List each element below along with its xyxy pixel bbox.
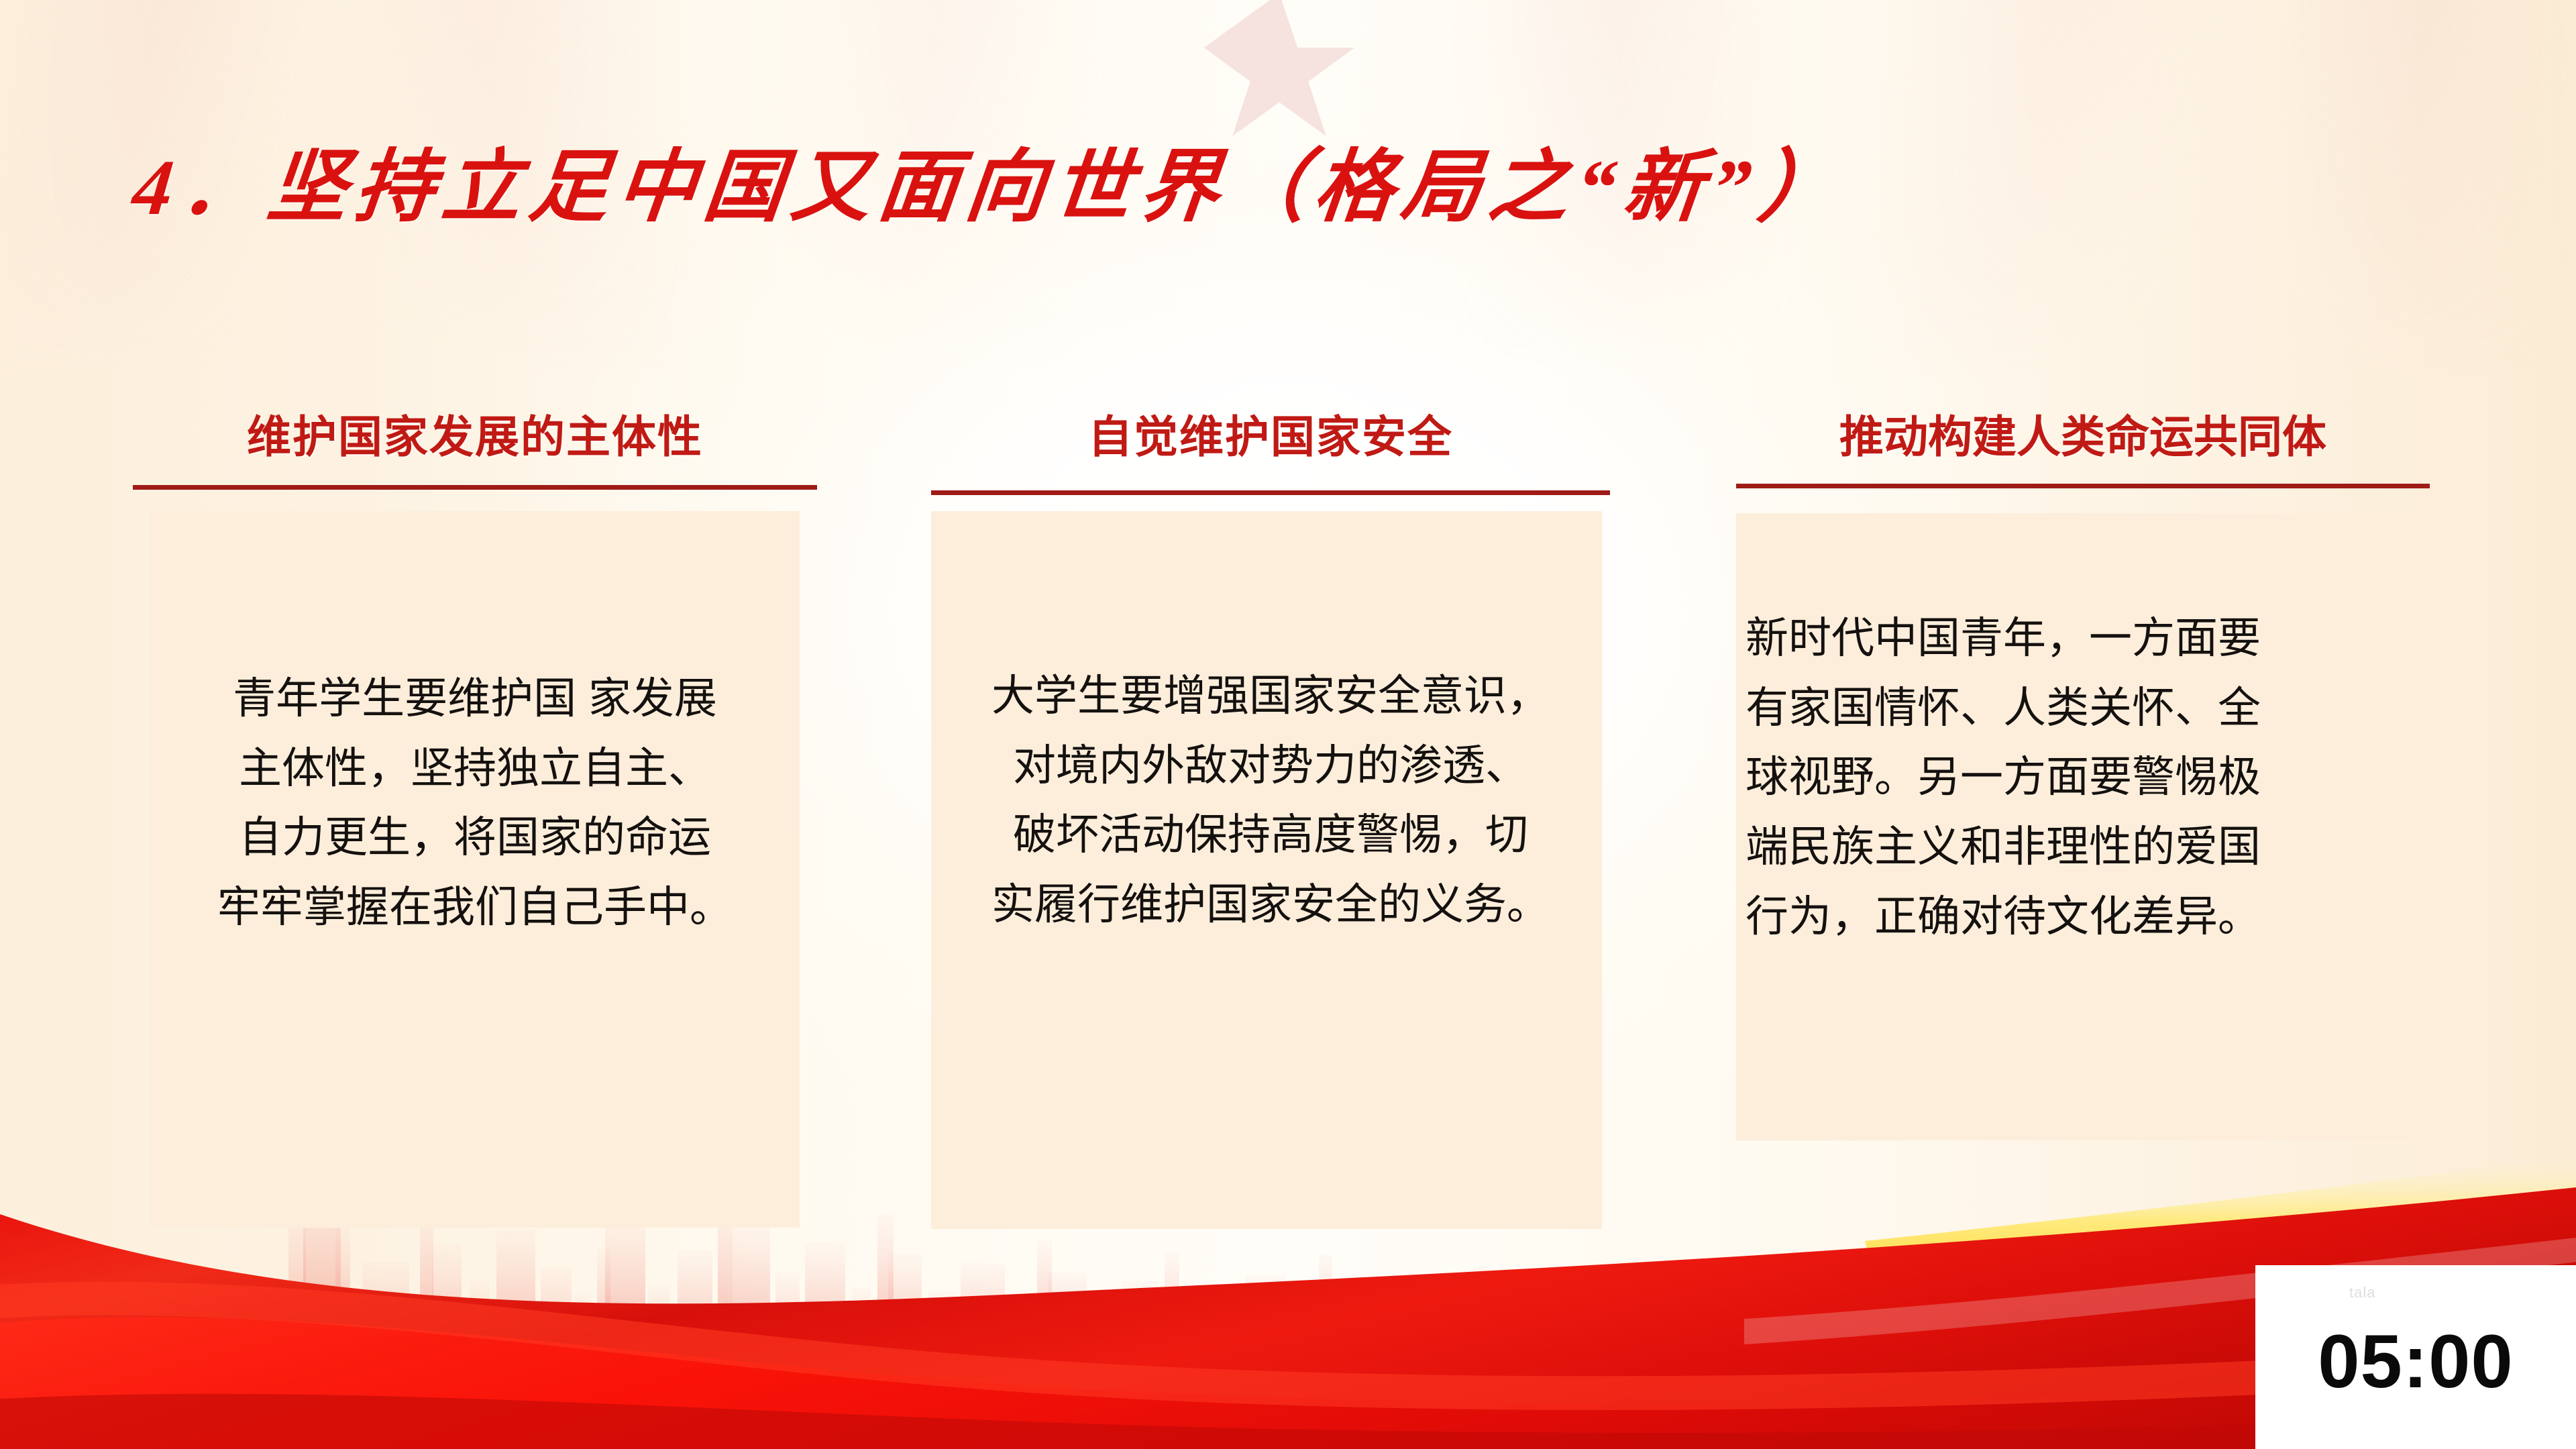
column-2-underline [931, 490, 1610, 495]
column-1-header: 维护国家发展的主体性 [133, 401, 817, 466]
slide-canvas: 4．坚持立足中国又面向世界（格局之“新”） 维护国家发展的主体性 青年学生要维护… [0, 0, 2576, 1449]
timer-watermark: tala [2349, 1284, 2375, 1301]
column-3-header: 推动构建人类命运共同体 [1736, 401, 2430, 466]
column-3-body-text: 新时代中国青年，一方面要 有家国情怀、人类关怀、全 球视野。另一方面要警惕极 端… [1736, 604, 2430, 951]
column-2-body-text: 大学生要增强国家安全意识， 对境内外敌对势力的渗透、 破坏活动保持高度警惕，切 … [931, 661, 1610, 940]
countdown-timer[interactable]: tala 05:00 [2255, 1265, 2576, 1449]
column-3-underline [1736, 484, 2430, 488]
content-columns: 维护国家发展的主体性 青年学生要维护国 家发展 主体性，坚持独立自主、 自力更生… [0, 0, 2576, 1449]
column-1-body-text: 青年学生要维护国 家发展 主体性，坚持独立自主、 自力更生，将国家的命运 牢牢掌… [133, 664, 817, 943]
timer-value: 05:00 [2318, 1324, 2513, 1399]
column-1-underline [133, 485, 817, 490]
column-2-header: 自觉维护国家安全 [931, 401, 1610, 466]
